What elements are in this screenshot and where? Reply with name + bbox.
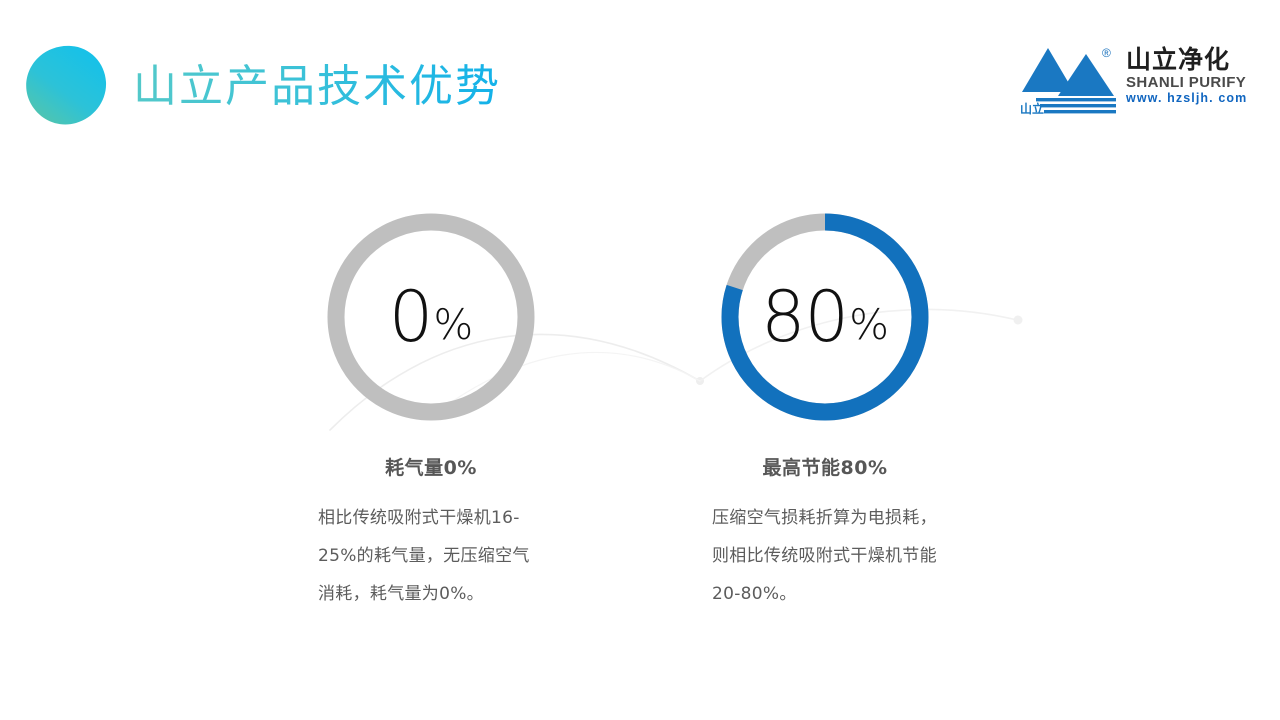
- metric-card-energy-saving: 80 % 最高节能80% 压缩空气损耗折算为电损耗，则相比传统吸附式干燥机节能2…: [635, 206, 1015, 613]
- metric-heading-0: 耗气量0%: [241, 455, 621, 481]
- registered-trademark-icon: ®: [1102, 46, 1111, 60]
- logo-brand-en: SHANLI PURIFY: [1126, 74, 1246, 91]
- donut-chart-0: 0 %: [241, 206, 621, 432]
- decorative-blob-icon: [24, 44, 108, 126]
- metric-card-gas-consumption: 0 % 耗气量0% 相比传统吸附式干燥机16-25%的耗气量，无压缩空气消耗，耗…: [241, 206, 621, 613]
- donut-value-0: 0 %: [241, 206, 621, 428]
- logo-text-block: 山立净化 SHANLI PURIFY www. hzsljh. com: [1126, 46, 1246, 106]
- donut-chart-1: 80 %: [635, 206, 1015, 432]
- slide-canvas: 山立产品技术优势 山立 ® 山立净化 SHANLI PURIFY www. hz…: [0, 0, 1280, 720]
- logo-brand-cn: 山立净化: [1126, 46, 1246, 74]
- donut-value-unit-1: %: [849, 304, 889, 346]
- donut-value-1: 80 %: [635, 206, 1015, 428]
- metric-heading-1: 最高节能80%: [635, 455, 1015, 481]
- donut-value-number-0: 0: [389, 282, 433, 352]
- donut-value-number-1: 80: [761, 282, 848, 352]
- donut-value-unit-0: %: [433, 304, 473, 346]
- page-title: 山立产品技术优势: [133, 58, 501, 116]
- company-logo: 山立 ® 山立净化 SHANLI PURIFY www. hzsljh. com: [1018, 44, 1244, 122]
- logo-website-url: www. hzsljh. com: [1126, 91, 1246, 106]
- metric-body-1: 压缩空气损耗折算为电损耗，则相比传统吸附式干燥机节能20-80%。: [712, 499, 938, 613]
- logo-mark-label: 山立: [1020, 101, 1044, 116]
- metric-body-0: 相比传统吸附式干燥机16-25%的耗气量，无压缩空气消耗，耗气量为0%。: [318, 499, 544, 613]
